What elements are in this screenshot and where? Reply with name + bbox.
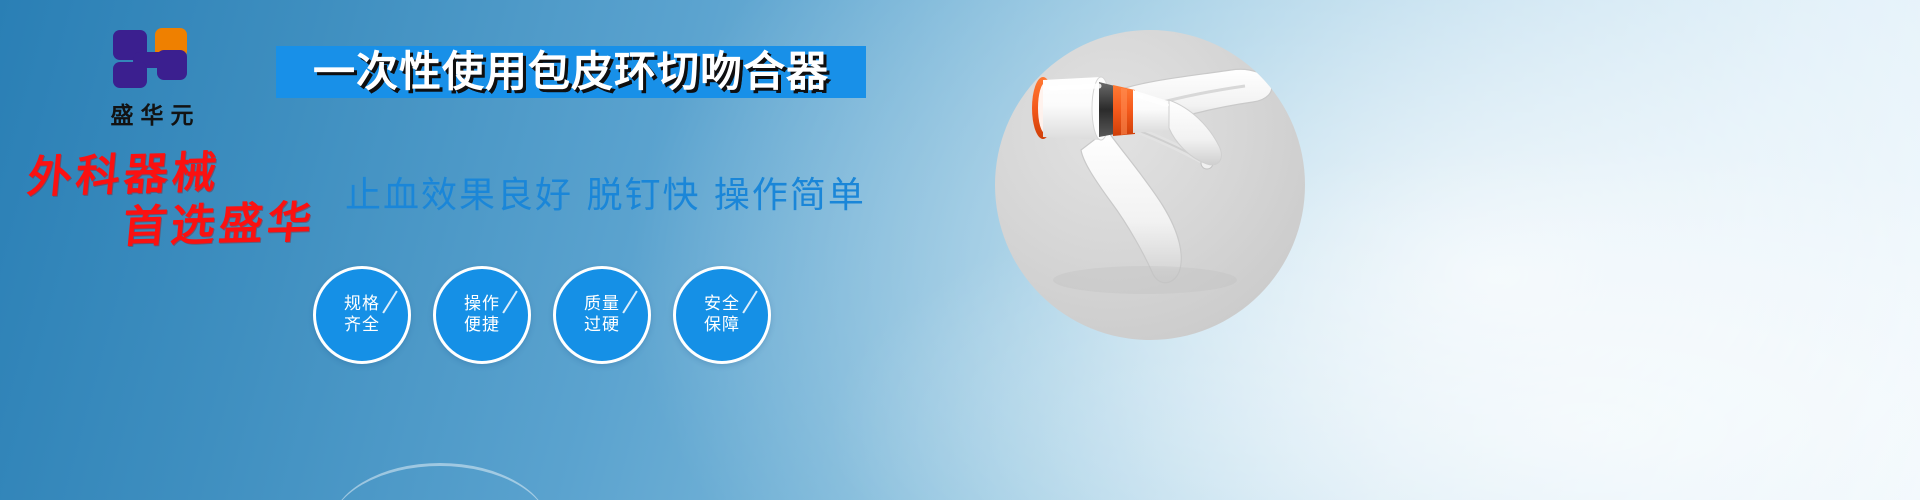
- product-subtitle: 止血效果良好 脱钉快 操作简单: [345, 166, 866, 218]
- feature-label-line-1: 操作: [464, 294, 500, 315]
- feature-label-line-2: 保障: [704, 315, 740, 336]
- brand-logo[interactable]: 盛华元: [62, 28, 242, 130]
- promo-banner: 盛华元 一次性使用包皮环切吻合器 外科器械 首选盛华 止血效果良好 脱钉快 操作…: [0, 0, 1920, 500]
- feature-label-line-1: 规格: [344, 294, 380, 315]
- product-title-bar: 一次性使用包皮环切吻合器: [276, 46, 866, 98]
- slogan-line-2: 首选盛华: [120, 200, 360, 251]
- slash-decor-icon: [502, 290, 517, 313]
- feature-label-line-2: 齐全: [344, 315, 380, 336]
- product-photo[interactable]: [995, 30, 1305, 340]
- slash-decor-icon: [382, 290, 397, 313]
- background-light-wash: [820, 140, 1920, 500]
- slash-decor-icon: [622, 290, 637, 313]
- feature-circle-quality[interactable]: 质量 过硬: [553, 266, 651, 364]
- product-title-text: 一次性使用包皮环切吻合器: [313, 51, 829, 93]
- slash-decor-icon: [742, 290, 757, 313]
- logo-block-purple-bottom-left: [113, 62, 147, 88]
- feature-circle-safety[interactable]: 安全 保障: [673, 266, 771, 364]
- slogan-calligraphy: 外科器械 首选盛华: [28, 152, 358, 248]
- feature-circle-list: 规格 齐全 操作 便捷 质量 过硬 安全 保障: [313, 266, 771, 364]
- decorative-arc: [330, 463, 550, 500]
- product-illustration-icon: [995, 30, 1305, 340]
- slogan-line-1: 外科器械: [25, 148, 360, 201]
- feature-label-line-2: 便捷: [464, 315, 500, 336]
- feature-circle-specification[interactable]: 规格 齐全: [313, 266, 411, 364]
- feature-label-line-1: 安全: [704, 294, 740, 315]
- brand-name: 盛华元: [62, 96, 242, 130]
- logo-block-purple-right: [157, 50, 187, 80]
- feature-label-line-2: 过硬: [584, 315, 620, 336]
- feature-label-line-1: 质量: [584, 294, 620, 315]
- logo-mark-icon: [113, 28, 191, 90]
- feature-circle-operation[interactable]: 操作 便捷: [433, 266, 531, 364]
